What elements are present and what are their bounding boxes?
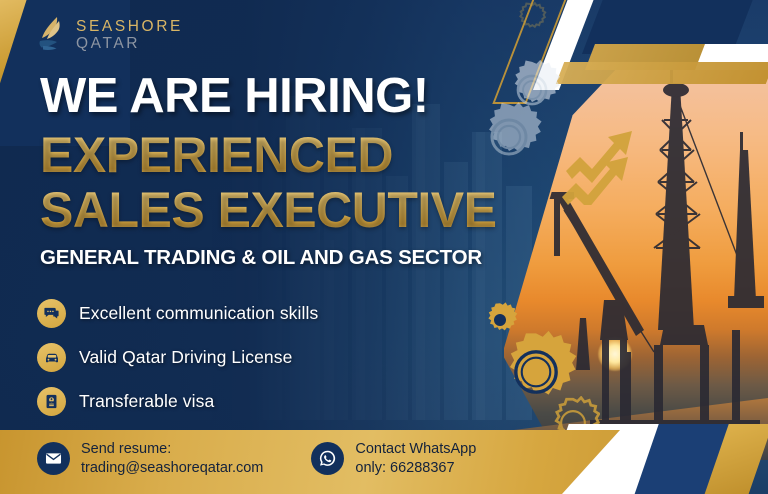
- diagonal-stripe-gold-2: [556, 62, 768, 84]
- requirements-list: Excellent communication skills Valid Qat…: [37, 291, 318, 423]
- whatsapp-label: Contact WhatsApp: [355, 440, 476, 459]
- list-item: Excellent communication skills: [37, 291, 318, 335]
- email-address[interactable]: trading@seashoreqatar.com: [81, 459, 263, 478]
- logo-name-top: SEASHORE: [76, 19, 183, 35]
- chat-bubble-icon: [37, 299, 66, 328]
- email-label: Send resume:: [81, 440, 263, 459]
- envelope-icon: [37, 442, 70, 475]
- logo-wordmark: SEASHORE QATAR: [76, 19, 183, 51]
- headline-block: WE ARE HIRING! EXPERIENCED SALES EXECUTI…: [40, 72, 497, 270]
- email-contact[interactable]: Send resume: trading@seashoreqatar.com: [37, 440, 263, 477]
- headline-experienced: EXPERIENCED: [40, 129, 497, 182]
- passport-icon: [37, 387, 66, 416]
- hiring-banner: SEASHORE QATAR WE ARE HIRING! EXPERIENCE…: [0, 0, 768, 494]
- whatsapp-glyph: [317, 448, 338, 469]
- requirement-label: Transferable visa: [79, 391, 214, 412]
- car-glyph: [43, 348, 61, 366]
- chat-bubble-glyph: [43, 305, 60, 322]
- gear-icon: [480, 300, 520, 340]
- contact-group: Send resume: trading@seashoreqatar.com C…: [37, 440, 476, 477]
- requirement-label: Excellent communication skills: [79, 303, 318, 324]
- headline-hiring: WE ARE HIRING!: [40, 72, 497, 121]
- logo-name-bottom: QATAR: [76, 36, 183, 52]
- headline-sector: GENERAL TRADING & OIL AND GAS SECTOR: [40, 246, 497, 270]
- passport-glyph: [43, 393, 60, 410]
- brand-logo: SEASHORE QATAR: [37, 16, 183, 54]
- whatsapp-icon: [311, 442, 344, 475]
- list-item: Transferable visa: [37, 379, 318, 423]
- sail-logo-icon: [37, 16, 67, 54]
- gear-icon: [510, 0, 550, 40]
- whatsapp-number[interactable]: only: 66288367: [355, 459, 476, 478]
- whatsapp-text: Contact WhatsApp only: 66288367: [355, 440, 476, 477]
- list-item: Valid Qatar Driving License: [37, 335, 318, 379]
- whatsapp-contact[interactable]: Contact WhatsApp only: 66288367: [311, 440, 476, 477]
- requirement-label: Valid Qatar Driving License: [79, 347, 292, 368]
- growth-arrow-icon: [560, 85, 650, 205]
- headline-job-title: SALES EXECUTIVE: [40, 184, 497, 237]
- envelope-glyph: [44, 449, 63, 468]
- email-text: Send resume: trading@seashoreqatar.com: [81, 440, 263, 477]
- car-icon: [37, 343, 66, 372]
